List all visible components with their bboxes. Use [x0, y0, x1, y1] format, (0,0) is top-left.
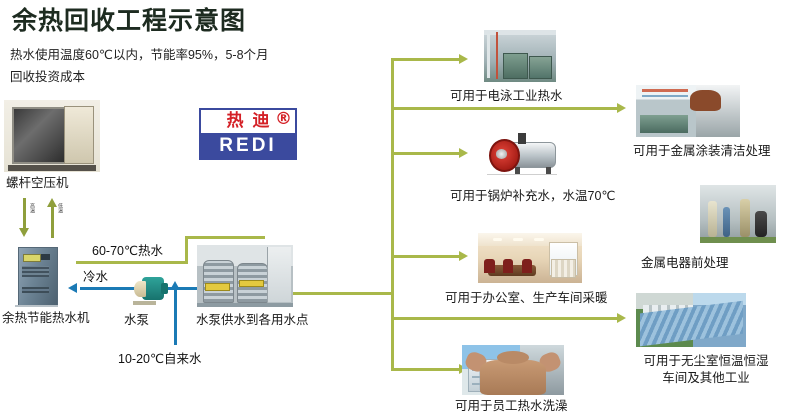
page-title: 余热回收工程示意图	[12, 8, 246, 36]
logo-char-re: 热	[227, 113, 244, 130]
tank-to-trunk-line	[293, 292, 394, 295]
cold-water-arrow-icon	[68, 283, 77, 293]
tap-water-label: 10-20℃自来水	[118, 348, 202, 367]
water-tank-caption: 水泵供水到各用水点	[196, 312, 309, 329]
compressor-in-line	[51, 206, 54, 238]
compressor-out-line	[23, 198, 26, 230]
logo-chinese-row: 热 迪 ®	[201, 110, 295, 133]
metal-coating-photo	[636, 85, 740, 137]
application-label-r3-line2: 车间及其他工业	[630, 370, 782, 387]
page-subtitle: 热水使用温度60℃以内，节能率95%，5-8个月回收投资成本	[10, 45, 275, 89]
compressor-in-arrow-icon	[47, 198, 57, 207]
compressor-out-arrow-icon	[19, 228, 29, 237]
air-compressor-caption: 螺杆空压机	[6, 175, 69, 192]
application-label-1: 可用于电泳工业热水	[450, 88, 563, 105]
cold-water-label: 冷水	[83, 266, 108, 285]
redi-logo: 热 迪 ® REDI	[199, 108, 297, 160]
heat-recovery-unit-caption: 余热节能热水机	[2, 310, 90, 327]
branch-arrow-2-icon	[617, 103, 626, 113]
electro-coating-photo	[484, 30, 556, 82]
compressor-in-label: 低温	[57, 203, 62, 213]
application-label-r2: 金属电器前处理	[641, 255, 729, 272]
water-pump-caption: 水泵	[124, 312, 149, 329]
air-compressor-photo	[4, 100, 100, 172]
branch-arrow-3-icon	[459, 148, 468, 158]
branch-line-2	[391, 107, 619, 110]
branch-arrow-5-icon	[617, 313, 626, 323]
application-label-r3: 可用于无尘室恒温恒湿 车间及其他工业	[630, 353, 782, 387]
branch-arrow-1-icon	[459, 54, 468, 64]
hot-water-line-v	[185, 236, 188, 264]
application-label-3: 可用于办公室、生产车间采暖	[445, 290, 608, 307]
water-tank-photo	[197, 245, 293, 307]
branch-line-3	[391, 152, 461, 155]
branch-line-1	[391, 58, 461, 61]
metal-pretreatment-photo	[700, 185, 776, 243]
water-pump-photo	[119, 275, 169, 305]
tap-water-line	[174, 289, 177, 345]
hot-water-line-h2	[185, 236, 265, 239]
branch-line-6	[391, 368, 461, 371]
hot-water-label: 60-70℃热水	[92, 240, 163, 259]
cleanroom-photo	[636, 293, 746, 347]
registered-trademark-icon: ®	[275, 111, 292, 128]
logo-latin-row: REDI	[201, 133, 295, 158]
heat-recovery-unit-photo	[12, 245, 64, 307]
branch-line-5	[391, 317, 619, 320]
application-label-2: 可用于锅炉补充水，水温70℃	[450, 188, 615, 205]
boiler-photo	[482, 130, 564, 178]
hot-water-line-h1	[76, 261, 188, 264]
application-label-r1: 可用于金属涂装清洁处理	[633, 143, 771, 160]
branch-line-4	[391, 255, 461, 258]
distribution-trunk-line	[391, 58, 394, 370]
branch-arrow-4-icon	[459, 251, 468, 261]
diagram-canvas: 余热回收工程示意图 热水使用温度60℃以内，节能率95%，5-8个月回收投资成本…	[0, 0, 789, 415]
logo-char-di: 迪	[253, 113, 270, 130]
application-label-4: 可用于员工热水洗澡	[455, 398, 568, 415]
compressor-out-label: 高温	[29, 203, 34, 213]
tap-water-arrow-icon	[170, 281, 180, 290]
office-heating-photo	[478, 233, 582, 283]
employee-shower-photo	[462, 345, 564, 395]
application-label-r3-line1: 可用于无尘室恒温恒湿	[630, 353, 782, 370]
